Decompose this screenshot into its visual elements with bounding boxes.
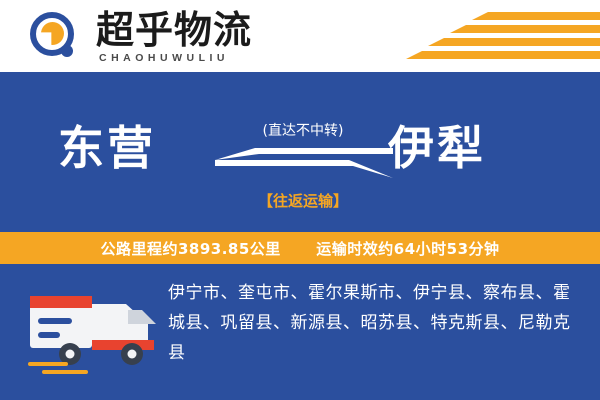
coverage-areas-text: 伊宁市、奎屯市、霍尔果斯市、伊宁县、察布县、霍城县、巩留县、新源县、昭苏县、特克…	[168, 278, 578, 368]
info-bar-content: 公路里程约3893.85公里 运输时效约64小时53分钟	[100, 238, 499, 259]
direct-shipping-note: (直达不中转)	[248, 120, 358, 140]
stripe-4	[406, 51, 600, 59]
stripe-2	[450, 25, 600, 33]
info-bar: 公路里程约3893.85公里 运输时效约64小时53分钟	[0, 232, 600, 264]
delivery-truck-icon	[28, 278, 160, 378]
logistics-route-poster: 超乎物流 CHAOHUWULIU 东营 (直达不中转) 【往返运输】 伊犁 公路…	[0, 0, 600, 400]
orange-speed-stripes-icon	[380, 12, 600, 62]
route-section: 东营 (直达不中转) 【往返运输】 伊犁	[0, 72, 600, 232]
stripe-1	[472, 12, 600, 20]
brand-name-en: CHAOHUWULIU	[99, 52, 229, 64]
destination-city: 伊犁	[388, 112, 486, 178]
origin-city: 东营	[58, 112, 156, 178]
coverage-section: 伊宁市、奎屯市、霍尔果斯市、伊宁县、察布县、霍城县、巩留县、新源县、昭苏县、特克…	[0, 264, 600, 400]
logo-dot	[61, 45, 73, 57]
round-trip-note: 【往返运输】	[243, 190, 363, 211]
header-bar: 超乎物流 CHAOHUWULIU	[0, 0, 600, 72]
double-arrow-icon	[215, 146, 393, 180]
brand-name-cn: 超乎物流	[96, 8, 252, 52]
distance-text: 公路里程约3893.85公里	[100, 240, 280, 258]
stripe-3	[428, 38, 600, 46]
circle-q-logo-icon	[30, 12, 80, 62]
duration-text: 运输时效约64小时53分钟	[316, 240, 499, 258]
